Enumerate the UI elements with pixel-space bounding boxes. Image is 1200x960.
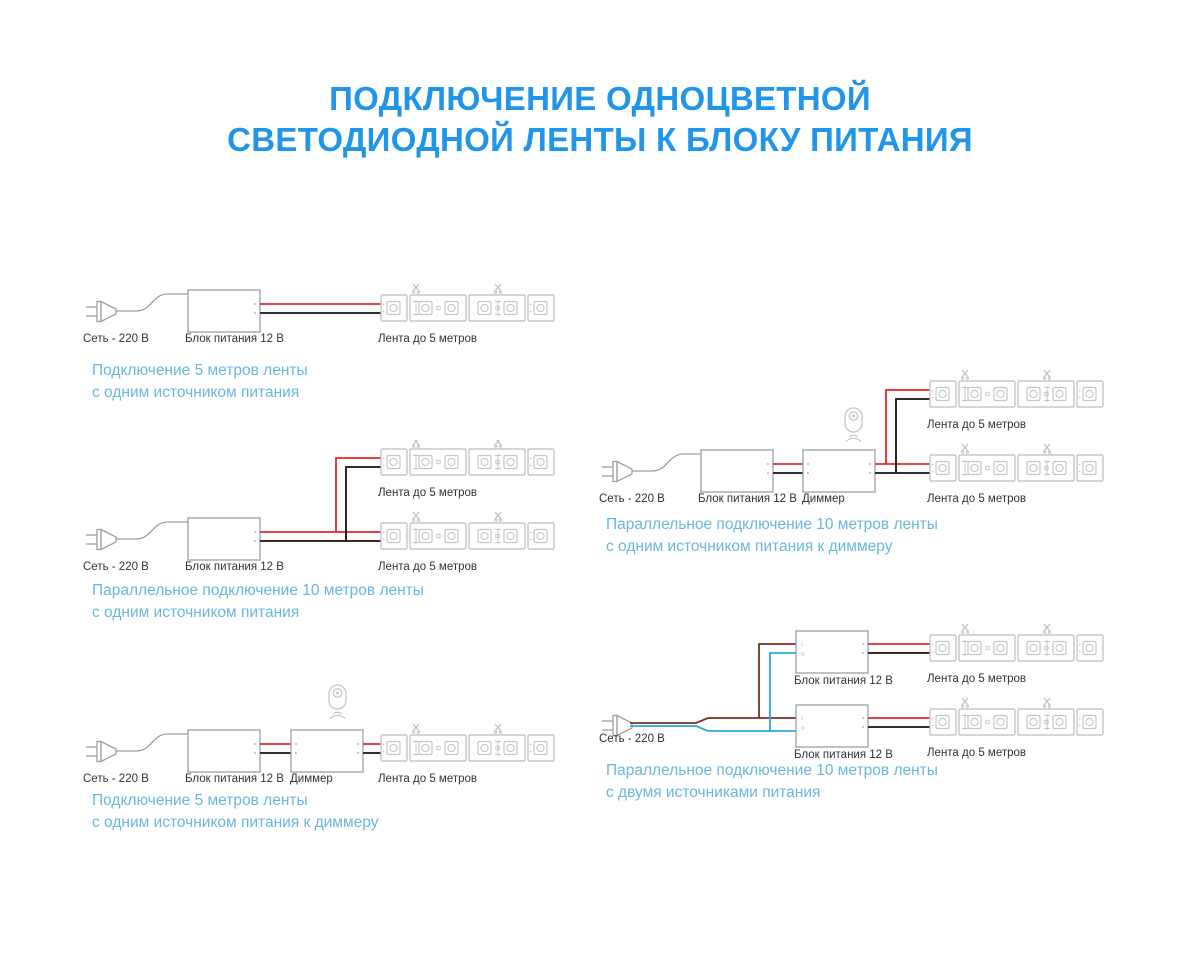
mains-plug-icon — [86, 302, 116, 322]
terminal-label-live-bottom: L — [801, 716, 804, 722]
mains-plug-icon — [86, 530, 116, 550]
caption-line-1: Параллельное подключение 10 метров ленты — [606, 514, 938, 536]
dimmer-box — [803, 450, 875, 492]
label-led-strip-top: Лента до 5 метров — [927, 672, 1026, 686]
caption-line-1: Параллельное подключение 10 метров ленты — [92, 580, 424, 602]
page-title-line-1: ПОДКЛЮЧЕНИЕ ОДНОЦВЕТНОЙ — [0, 78, 1200, 119]
wire-positive-upper — [886, 390, 932, 464]
label-power-supply: Блок питания 12 В — [185, 560, 284, 574]
mains-cable — [632, 454, 701, 471]
label-led-strip-top: Лента до 5 метров — [927, 418, 1026, 432]
caption-line-2: с одним источником питания к диммеру — [92, 812, 378, 834]
caption-parallel-two-strips-dimmer: Параллельное подключение 10 метров ленты… — [606, 514, 938, 558]
caption-line-2: с одним источником питания — [92, 602, 424, 624]
wire-mains-neutral-branch — [770, 653, 796, 731]
led-strip-top — [930, 370, 1103, 407]
diagram-single-strip-dimmer: Сеть - 220 В Блок питания 12 В Диммер Ле… — [80, 682, 580, 782]
label-led-strip-top: Лента до 5 метров — [378, 486, 477, 500]
power-supply-box-top — [796, 631, 868, 673]
label-mains: Сеть - 220 В — [83, 560, 149, 574]
led-strip-bottom — [930, 444, 1103, 481]
mains-cable — [116, 522, 188, 539]
wire-mains-live-branch — [759, 644, 796, 718]
label-mains: Сеть - 220 В — [599, 492, 665, 506]
led-strip-top — [930, 624, 1103, 661]
mains-plug-icon — [86, 742, 116, 762]
label-led-strip-bottom: Лента до 5 метров — [927, 746, 1026, 760]
label-power-supply: Блок питания 12 В — [185, 772, 284, 786]
led-strip-top — [381, 440, 554, 475]
caption-line-1: Подключение 5 метров ленты — [92, 790, 378, 812]
power-supply-box — [701, 450, 773, 492]
caption-line-1: Параллельное подключение 10 метров ленты — [606, 760, 938, 782]
label-dimmer: Диммер — [802, 492, 845, 506]
led-strip-bottom — [930, 698, 1103, 735]
power-supply-box-bottom — [796, 705, 868, 747]
page-title: ПОДКЛЮЧЕНИЕ ОДНОЦВЕТНОЙ СВЕТОДИОДНОЙ ЛЕН… — [0, 78, 1200, 160]
diagram-single-strip-one-psu: Сеть - 220 В Блок питания 12 В Лента до … — [80, 282, 580, 344]
wire-mains-live-trunk — [630, 718, 796, 723]
label-led-strip-bottom: Лента до 5 метров — [927, 492, 1026, 506]
wire-negative-upper — [896, 399, 932, 473]
remote-control-icon — [845, 408, 862, 442]
wire-positive-upper — [336, 458, 383, 532]
caption-single-strip-dimmer: Подключение 5 метров ленты с одним источ… — [92, 790, 378, 834]
label-dimmer: Диммер — [290, 772, 333, 786]
diagram-parallel-two-strips-one-psu: Сеть - 220 В Блок питания 12 В Лента до … — [80, 440, 580, 570]
led-strip — [381, 724, 554, 761]
label-led-strip: Лента до 5 метров — [378, 772, 477, 786]
power-supply-box — [188, 290, 260, 332]
label-mains: Сеть - 220 В — [83, 772, 149, 786]
label-power-supply: Блок питания 12 В — [698, 492, 797, 506]
mains-cable — [116, 734, 188, 751]
label-mains: Сеть - 220 В — [599, 732, 665, 746]
caption-line-2: с одним источником питания — [92, 382, 308, 404]
terminal-label-live-top: L — [801, 642, 804, 648]
led-strip — [381, 284, 554, 321]
caption-line-2: с двумя источниками питания — [606, 782, 938, 804]
mains-cable — [116, 294, 188, 311]
label-power-supply-top: Блок питания 12 В — [794, 674, 893, 688]
mains-plug-icon — [602, 462, 632, 482]
remote-control-icon — [329, 685, 346, 719]
terminal-label-neutral-top: N — [801, 652, 805, 658]
caption-parallel-two-strips-one-psu: Параллельное подключение 10 метров ленты… — [92, 580, 424, 624]
led-strip-bottom — [381, 512, 554, 549]
label-led-strip: Лента до 5 метров — [378, 332, 477, 346]
caption-line-1: Подключение 5 метров ленты — [92, 360, 308, 382]
label-led-strip-bottom: Лента до 5 метров — [378, 560, 477, 574]
power-supply-box — [188, 518, 260, 560]
caption-parallel-two-strips-two-psu: Параллельное подключение 10 метров ленты… — [606, 760, 938, 804]
label-mains: Сеть - 220 В — [83, 332, 149, 346]
label-power-supply: Блок питания 12 В — [185, 332, 284, 346]
caption-single-strip-one-psu: Подключение 5 метров ленты с одним источ… — [92, 360, 308, 404]
diagram-parallel-two-strips-two-psu: L N L N — [596, 622, 1106, 760]
page-title-line-2: СВЕТОДИОДНОЙ ЛЕНТЫ К БЛОКУ ПИТАНИЯ — [0, 119, 1200, 160]
dimmer-box — [291, 730, 363, 772]
wire-mains-neutral-trunk — [630, 726, 796, 731]
caption-line-2: с одним источником питания к диммеру — [606, 536, 938, 558]
wire-negative-upper — [346, 467, 383, 541]
infographic-canvas: ПОДКЛЮЧЕНИЕ ОДНОЦВЕТНОЙ СВЕТОДИОДНОЙ ЛЕН… — [0, 0, 1200, 960]
diagram-parallel-two-strips-dimmer: Сеть - 220 В Блок питания 12 В Диммер Ле… — [596, 370, 1106, 502]
power-supply-box — [188, 730, 260, 772]
terminal-label-neutral-bottom: N — [801, 726, 805, 732]
